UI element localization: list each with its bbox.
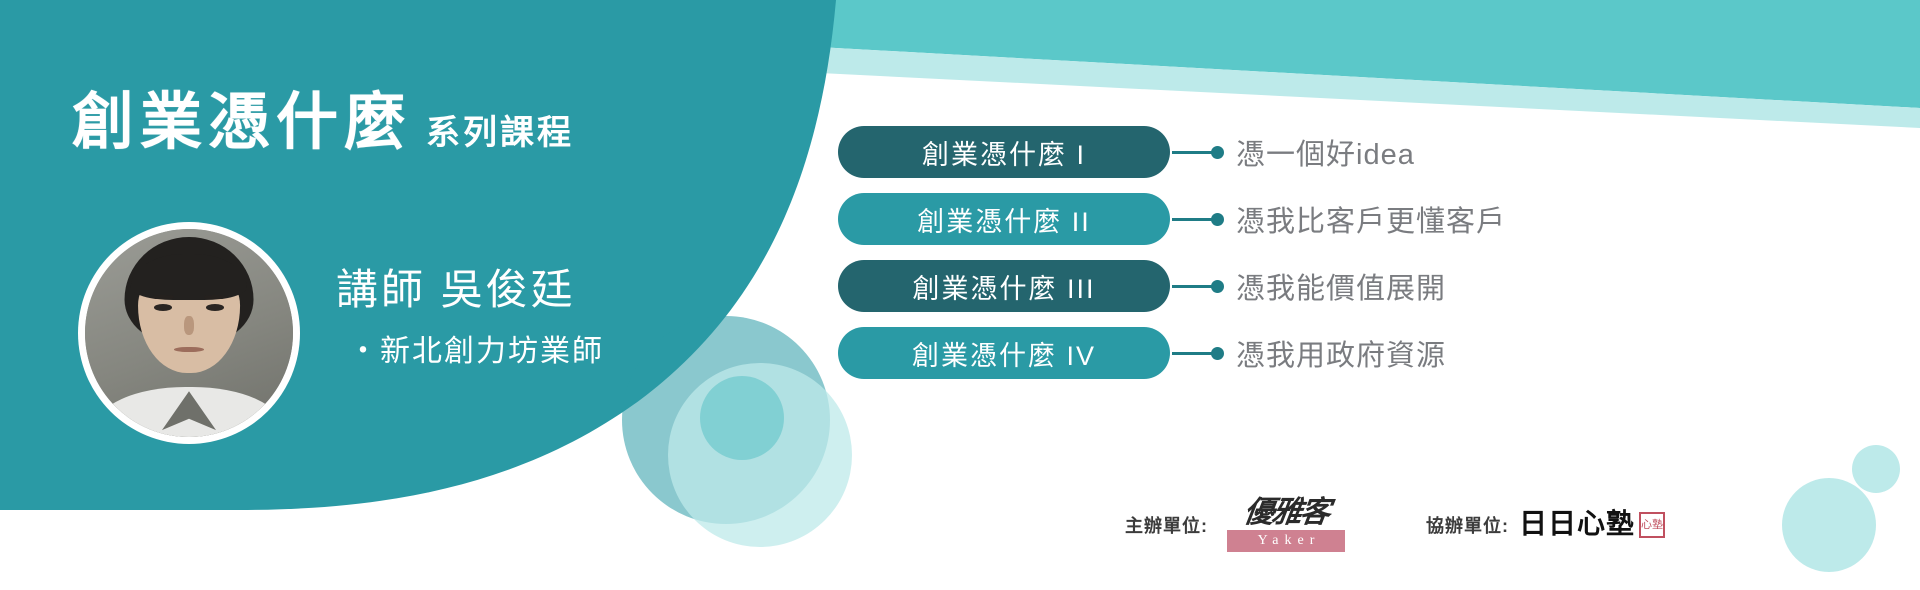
organizer-group: 主辦單位: 優雅客 Yaker: [1125, 498, 1352, 552]
page-subtitle: 系列課程: [426, 116, 574, 154]
instructor-credential: ・新北創力坊業師: [348, 326, 604, 370]
course-description-3: 憑我能價值展開: [1236, 265, 1446, 307]
left-panel: 創業憑什麼 系列課程 講師 吳俊廷 ・新北創力坊業師: [0, 0, 820, 590]
connector-line-icon: [1172, 279, 1226, 293]
course-description-2: 憑我比客戶更懂客戶: [1236, 198, 1506, 240]
course-pill-4[interactable]: 創業憑什麼 IV: [838, 327, 1170, 379]
course-row: 創業憑什麼 I 憑一個好idea: [838, 124, 1506, 180]
course-row: 創業憑什麼 II 憑我比客戶更懂客戶: [838, 191, 1506, 247]
title-block: 創業憑什麼 系列課程: [72, 92, 574, 154]
instructor-avatar: [78, 222, 300, 444]
course-promo-banner: 創業憑什麼 系列課程 講師 吳俊廷 ・新北創力坊業師: [0, 0, 1920, 590]
connector-line-icon: [1172, 145, 1226, 159]
co-organizer-logo: 日日心塾 心塾: [1519, 511, 1665, 539]
course-pill-3[interactable]: 創業憑什麼 III: [838, 260, 1170, 312]
co-organizer-label: 協辦單位:: [1426, 512, 1509, 538]
co-organizer-logo-mark: 日日心塾: [1519, 511, 1635, 539]
instructor-name: 講師 吳俊廷: [336, 256, 576, 317]
decor-circle-br-small: [1852, 445, 1900, 493]
co-organizer-seal-icon: 心塾: [1639, 512, 1665, 538]
connector-line-icon: [1172, 346, 1226, 360]
page-title: 創業憑什麼: [72, 92, 412, 154]
organizer-logo-bar: Yaker: [1227, 530, 1345, 552]
course-row: 創業憑什麼 III 憑我能價值展開: [838, 258, 1506, 314]
course-pill-2[interactable]: 創業憑什麼 II: [838, 193, 1170, 245]
course-row: 創業憑什麼 IV 憑我用政府資源: [838, 325, 1506, 381]
organizer-logo-romanized: Yaker: [1252, 533, 1321, 549]
co-organizer-group: 協辦單位: 日日心塾 心塾: [1426, 511, 1665, 539]
sponsor-footer: 主辦單位: 優雅客 Yaker 協辦單位: 日日心塾 心塾: [1125, 498, 1665, 552]
course-description-4: 憑我用政府資源: [1236, 332, 1446, 374]
connector-line-icon: [1172, 212, 1226, 226]
course-description-1: 憑一個好idea: [1236, 131, 1415, 173]
organizer-label: 主辦單位:: [1125, 512, 1208, 538]
course-list: 創業憑什麼 I 憑一個好idea 創業憑什麼 II 憑我比客戶更懂客戶 創業憑什…: [838, 124, 1506, 392]
organizer-logo-mark: 優雅客: [1242, 498, 1330, 528]
decor-circle-br-large: [1782, 478, 1876, 572]
course-pill-1[interactable]: 創業憑什麼 I: [838, 126, 1170, 178]
organizer-logo: 優雅客 Yaker: [1220, 498, 1352, 552]
avatar-image: [85, 229, 293, 437]
